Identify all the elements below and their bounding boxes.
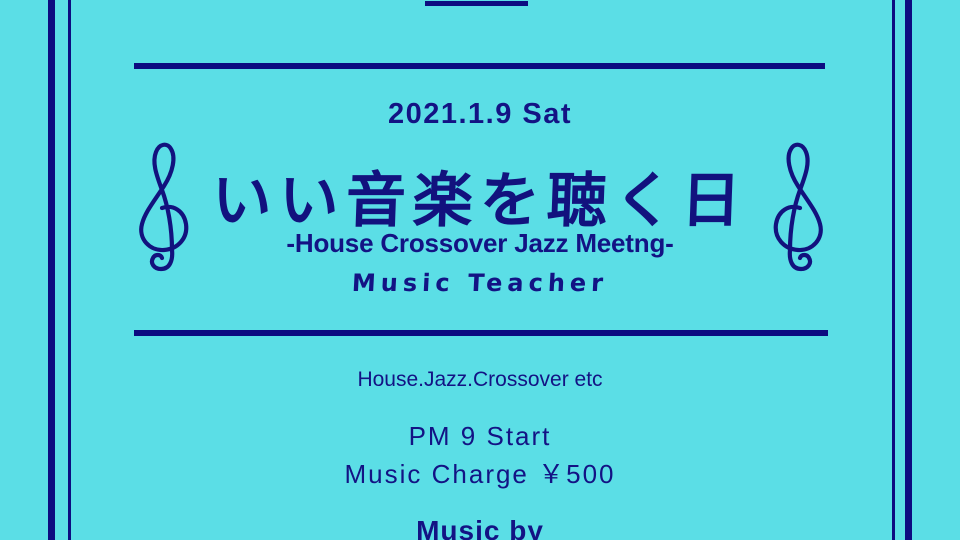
divider-bottom bbox=[134, 330, 828, 336]
event-subtitle: -House Crossover Jazz Meetng- bbox=[0, 228, 960, 259]
divider-top bbox=[134, 63, 825, 69]
event-genres: House.Jazz.Crossover etc bbox=[0, 368, 960, 392]
poster-canvas: ” 2021.1.9 Sat いい音楽を聴く日 -House Crossover… bbox=[0, 0, 960, 540]
top-ornament-line bbox=[425, 1, 528, 6]
event-charge: Music Charge ￥500 bbox=[0, 454, 960, 491]
event-title-jp: いい音楽を聴く日 bbox=[0, 152, 960, 239]
event-date: 2021.1.9 Sat bbox=[0, 98, 960, 131]
event-music-by: Music by bbox=[0, 515, 960, 540]
top-ornament: ” bbox=[425, 0, 555, 18]
closing-quote-icon: ” bbox=[526, 0, 554, 24]
event-start-time: PM 9 Start bbox=[0, 421, 960, 452]
event-presenter: Music Teacher bbox=[0, 269, 960, 297]
